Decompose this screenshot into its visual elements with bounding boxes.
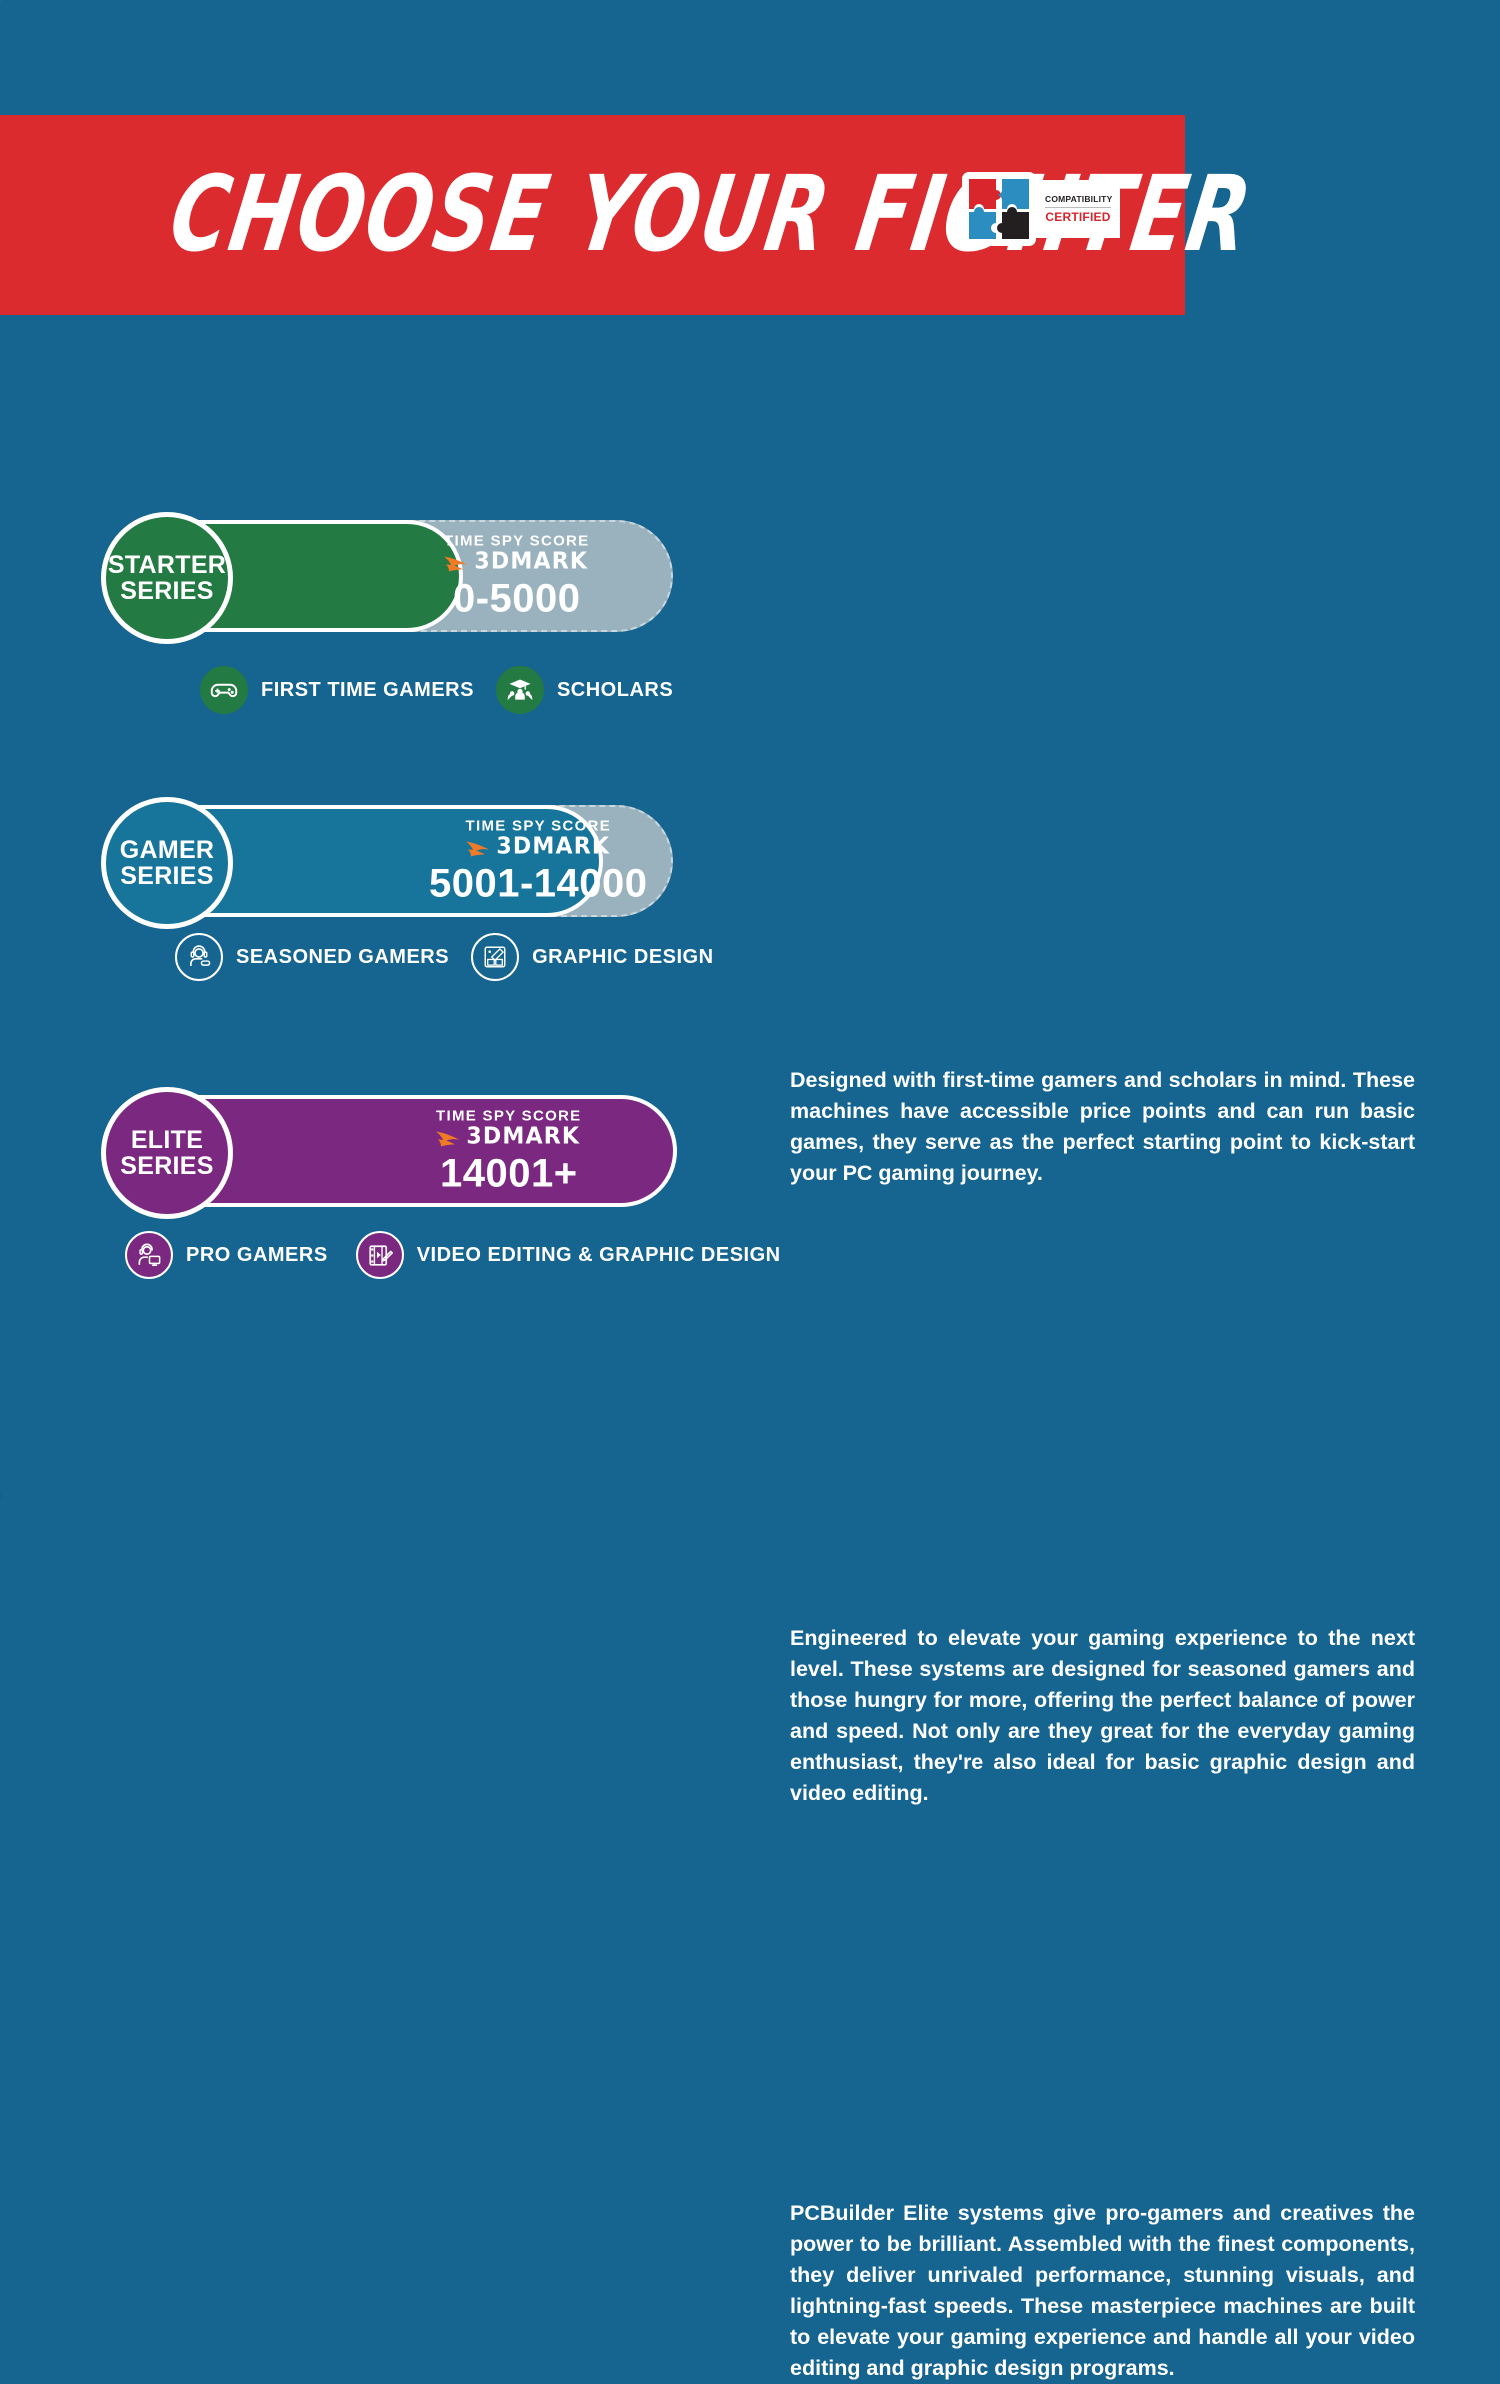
puzzle-icon bbox=[962, 172, 1036, 246]
color-swatch-icon bbox=[471, 933, 519, 981]
pro-gamer-monitor-icon bbox=[125, 1231, 173, 1279]
tier-meter-gamer: GAMER SERIES TIME SPY SCORE 3DMARK 5001-… bbox=[103, 805, 673, 917]
series-name-line1: ELITE bbox=[131, 1127, 203, 1153]
badge-compatibility-label: COMPATIBILITY bbox=[1045, 195, 1111, 209]
tag-list-gamer: SEASONED GAMERS GRAPHIC DESIGN bbox=[175, 933, 714, 981]
series-name-line2: SERIES bbox=[120, 1153, 214, 1179]
badge-certified-label: CERTIFIED bbox=[1045, 211, 1110, 223]
tier-description-gamer: Engineered to elevate your gaming experi… bbox=[790, 1623, 1415, 1809]
score-value: 0-5000 bbox=[453, 579, 581, 619]
series-badge-elite: ELITE SERIES bbox=[101, 1087, 233, 1219]
benchmark-name: 3DMARK bbox=[474, 551, 588, 574]
score-track: STARTER SERIES TIME SPY SCORE 3DMARK 0-5… bbox=[103, 520, 673, 632]
film-pencil-icon bbox=[356, 1231, 404, 1279]
tier-meter-starter: STARTER SERIES TIME SPY SCORE 3DMARK 0-5… bbox=[103, 520, 673, 632]
tag-item[interactable]: PRO GAMERS bbox=[125, 1231, 328, 1279]
tag-item[interactable]: VIDEO EDITING & GRAPHIC DESIGN bbox=[356, 1231, 781, 1279]
tag-item[interactable]: SEASONED GAMERS bbox=[175, 933, 449, 981]
tag-label: GRAPHIC DESIGN bbox=[532, 946, 713, 969]
tier-description-starter: Designed with first-time gamers and scho… bbox=[790, 1065, 1415, 1189]
tag-list-elite: PRO GAMERS VIDEO EDITING & GRAPHIC DESIG… bbox=[125, 1231, 781, 1279]
score-block-starter: TIME SPY SCORE 3DMARK 0-5000 bbox=[443, 534, 591, 619]
tag-item[interactable]: SCHOLARS bbox=[496, 666, 673, 714]
compatibility-certified-badge: COMPATIBILITY CERTIFIED bbox=[962, 172, 1120, 246]
tag-item[interactable]: FIRST TIME GAMERS bbox=[200, 666, 474, 714]
tag-label: SCHOLARS bbox=[557, 679, 673, 702]
graduation-group-icon bbox=[496, 666, 544, 714]
series-badge-gamer: GAMER SERIES bbox=[101, 797, 233, 929]
series-badge-starter: STARTER SERIES bbox=[101, 512, 233, 644]
series-name-line2: SERIES bbox=[120, 863, 214, 889]
headset-gamer-icon bbox=[175, 933, 223, 981]
tag-label: SEASONED GAMERS bbox=[236, 946, 449, 969]
score-track: GAMER SERIES TIME SPY SCORE 3DMARK 5001-… bbox=[103, 805, 673, 917]
gamepad-icon bbox=[200, 666, 248, 714]
tag-label: FIRST TIME GAMERS bbox=[261, 679, 474, 702]
tier-meter-elite: ELITE SERIES TIME SPY SCORE 3DMARK 14001… bbox=[103, 1095, 673, 1207]
series-name-line2: SERIES bbox=[120, 578, 214, 604]
tag-item[interactable]: GRAPHIC DESIGN bbox=[471, 933, 713, 981]
series-name-line1: STARTER bbox=[108, 552, 226, 578]
score-label: TIME SPY SCORE bbox=[444, 534, 589, 549]
score-track: ELITE SERIES TIME SPY SCORE 3DMARK 14001… bbox=[103, 1095, 673, 1207]
certified-text-plate: COMPATIBILITY CERTIFIED bbox=[1036, 180, 1120, 238]
tier-description-elite: PCBuilder Elite systems give pro-gamers … bbox=[790, 2198, 1415, 2384]
tag-label: VIDEO EDITING & GRAPHIC DESIGN bbox=[417, 1244, 781, 1267]
series-name-line1: GAMER bbox=[120, 837, 215, 863]
tag-label: PRO GAMERS bbox=[186, 1244, 328, 1267]
benchmark-logo: 3DMARK bbox=[443, 551, 591, 574]
tag-list-starter: FIRST TIME GAMERS SCHOLARS bbox=[200, 666, 673, 714]
